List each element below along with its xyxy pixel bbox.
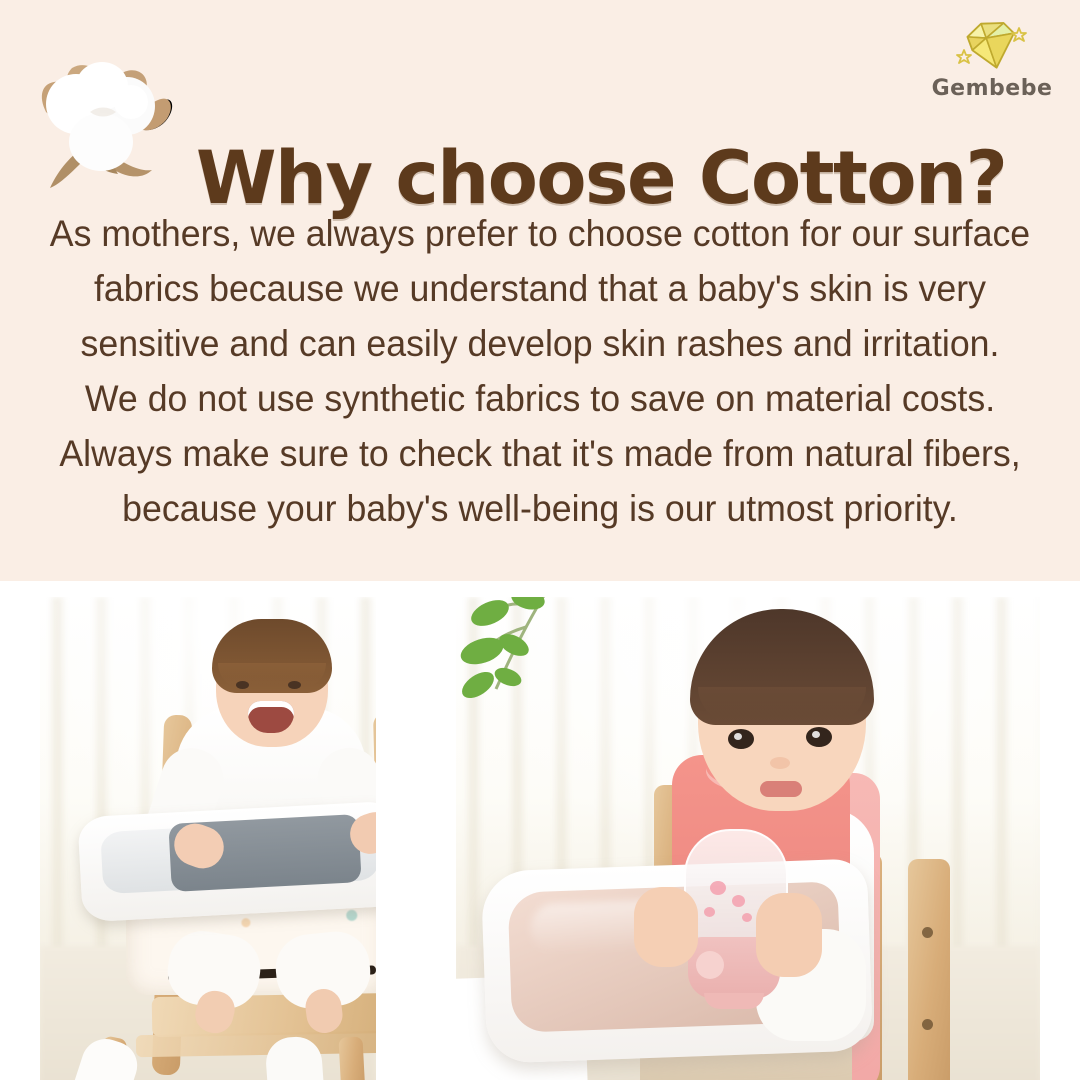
- body-line: because your baby's well-being is our ut…: [42, 481, 1038, 536]
- brand-logo: Gembebe: [926, 16, 1058, 112]
- body-paragraph: As mothers, we always prefer to choose c…: [42, 206, 1038, 536]
- cup-foot: [704, 993, 764, 1009]
- plant-icon: [456, 597, 606, 743]
- promo-page: Why choose Cotton?: [0, 0, 1080, 1080]
- body-line: Always make sure to check that it's made…: [42, 426, 1038, 481]
- brand-name: Gembebe: [926, 76, 1058, 101]
- baby-hair: [212, 619, 332, 693]
- body-line: We do not use synthetic fabrics to save …: [42, 371, 1038, 426]
- photo-band: [0, 581, 1080, 1080]
- body-line: sensitive and can easily develop skin ra…: [42, 316, 1038, 371]
- baby-eye: [806, 727, 832, 747]
- body-line: fabrics because we understand that a bab…: [42, 261, 1038, 316]
- baby-hand-left: [634, 887, 698, 967]
- baby-eye: [288, 681, 301, 689]
- cup-pattern-dot: [742, 913, 752, 922]
- baby-eye: [728, 729, 754, 749]
- cup-pattern-dot: [732, 895, 745, 907]
- baby-mouth: [760, 781, 802, 797]
- highchair-post-right: [908, 859, 950, 1080]
- baby-legs: [168, 933, 376, 1019]
- highchair-peg: [922, 1019, 933, 1030]
- product-photo-left: [40, 597, 376, 1080]
- text-panel: Why choose Cotton?: [0, 0, 1080, 581]
- cup-button: [696, 951, 724, 979]
- body-line: As mothers, we always prefer to choose c…: [42, 206, 1038, 261]
- baby-eye: [236, 681, 249, 689]
- cup-pattern-dot: [710, 881, 726, 895]
- baby-mouth: [248, 701, 294, 733]
- highchair-leg: [338, 1036, 365, 1080]
- gem-diamond-icon: [956, 16, 1028, 76]
- highchair-peg: [922, 927, 933, 938]
- cup-pattern-dot: [704, 907, 715, 917]
- baby-nose: [770, 757, 790, 769]
- cotton-boll-icon: [28, 48, 180, 198]
- baby-hand-right: [756, 893, 822, 977]
- product-photo-right: [456, 597, 1040, 1080]
